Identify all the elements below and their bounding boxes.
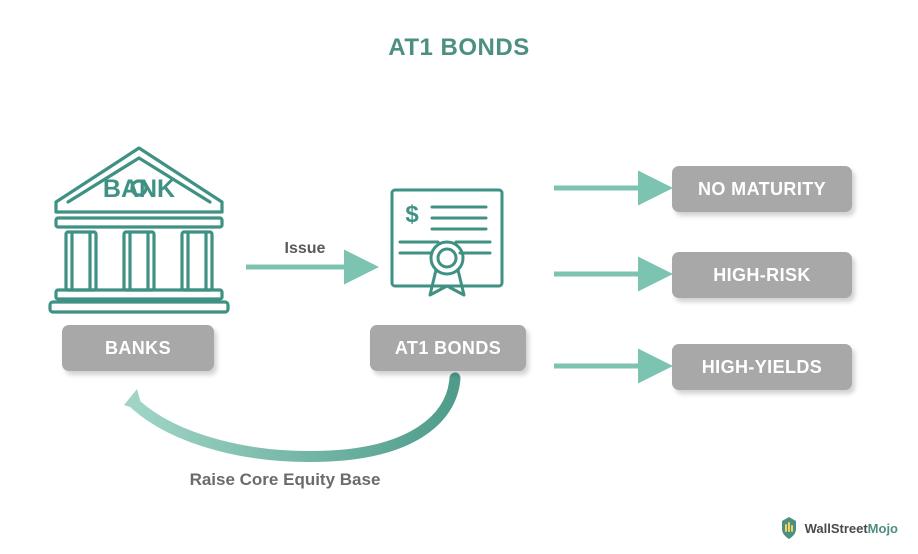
bank-icon-text: BANK: [103, 175, 175, 203]
logo-mark-icon: [778, 516, 800, 540]
node-at1-bonds-label: AT1 BONDS: [395, 338, 501, 359]
node-high-risk-label: HIGH-RISK: [713, 265, 811, 286]
logo-text-part1: WallStreet: [805, 521, 868, 536]
feedback-label: Raise Core Equity Base: [130, 470, 440, 490]
wallstreetmojo-logo: WallStreetMojo: [778, 516, 898, 540]
node-no-maturity-label: NO MATURITY: [698, 179, 826, 200]
logo-text: WallStreetMojo: [805, 521, 898, 536]
arrow-feedback: [135, 378, 455, 457]
arrow-feedback-head: [124, 389, 143, 411]
diagram-canvas: AT1 BONDS BANK $: [0, 0, 918, 554]
node-at1-bonds[interactable]: AT1 BONDS: [370, 325, 526, 371]
certificate-icon: $: [386, 185, 508, 303]
node-banks-label: BANKS: [105, 338, 171, 359]
node-high-yields-label: HIGH-YIELDS: [702, 357, 822, 378]
node-banks[interactable]: BANKS: [62, 325, 214, 371]
page-title: AT1 BONDS: [0, 34, 918, 62]
bank-icon: BANK: [48, 140, 230, 315]
svg-text:$: $: [405, 201, 419, 228]
node-no-maturity[interactable]: NO MATURITY: [672, 166, 852, 212]
node-high-risk[interactable]: HIGH-RISK: [672, 252, 852, 298]
issue-label: Issue: [245, 240, 365, 258]
node-high-yields[interactable]: HIGH-YIELDS: [672, 344, 852, 390]
logo-text-part2: Mojo: [868, 521, 898, 536]
